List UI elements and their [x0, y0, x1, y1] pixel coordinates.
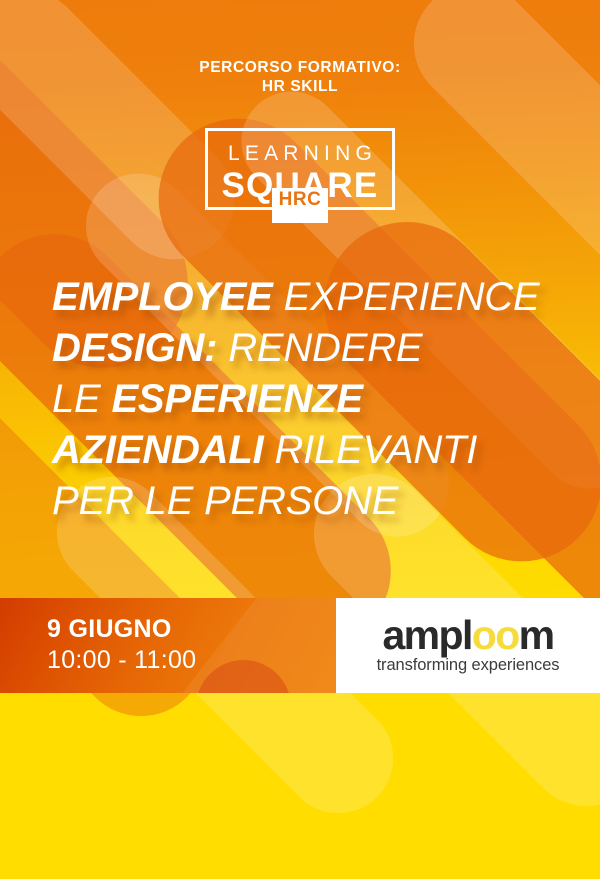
sponsor-logo-panel: amploom transforming experiences: [336, 598, 600, 693]
page-title-segment: RILEVANTI: [264, 428, 478, 472]
event-time: 10:00 - 11:00: [47, 645, 196, 676]
learning-square-learning-word: LEARNING: [208, 143, 392, 165]
page-title-segment: RENDERE: [217, 326, 422, 370]
hrc-sub-wrap: COMMUNITY: [272, 211, 328, 219]
amploom-part-1: ampl: [382, 612, 471, 658]
amploom-part-2: m: [519, 612, 554, 658]
page-title-emphasis: EMPLOYEE: [52, 275, 284, 319]
page-title-emphasis: AZIENDALI: [52, 428, 264, 472]
amploom-accent-oo: oo: [472, 612, 519, 658]
page-title-segment: EXPERIENCE: [284, 275, 540, 319]
event-date: 9 GIUGNO: [47, 614, 196, 645]
page-title-line: DESIGN: RENDERE: [52, 323, 582, 374]
page-title-emphasis: DESIGN:: [52, 326, 217, 370]
page-title-line: PER LE PERSONE: [52, 476, 582, 527]
event-poster: PERCORSO FORMATIVO: HR SKILL LEARNING SQ…: [0, 0, 600, 879]
page-title-line: LE ESPERIENZE: [52, 374, 582, 425]
page-title-emphasis: ESPERIENZE: [111, 377, 362, 421]
amploom-tagline: transforming experiences: [336, 656, 600, 675]
event-date-text: 9 GIUGNO 10:00 - 11:00: [47, 614, 196, 676]
kicker-text: PERCORSO FORMATIVO: HR SKILL: [0, 58, 600, 96]
kicker-line-2: HR SKILL: [0, 77, 600, 96]
page-title-line: AZIENDALI RILEVANTI: [52, 425, 582, 476]
date-bar-sheen: [183, 598, 336, 693]
page-title-segment: PER LE PERSONE: [52, 479, 398, 523]
event-date-bar: 9 GIUGNO 10:00 - 11:00: [0, 598, 336, 693]
page-title-segment: LE: [52, 377, 111, 421]
page-title-line: EMPLOYEE EXPERIENCE: [52, 272, 582, 323]
page-title: EMPLOYEE EXPERIENCEDESIGN: RENDERELE ESP…: [52, 272, 582, 527]
hrc-community-text: COMMUNITY: [272, 211, 328, 219]
hrc-mark-text: HRC: [272, 189, 328, 210]
amploom-logo-wordmark: amploom: [336, 614, 600, 656]
kicker-line-1: PERCORSO FORMATIVO:: [0, 58, 600, 77]
